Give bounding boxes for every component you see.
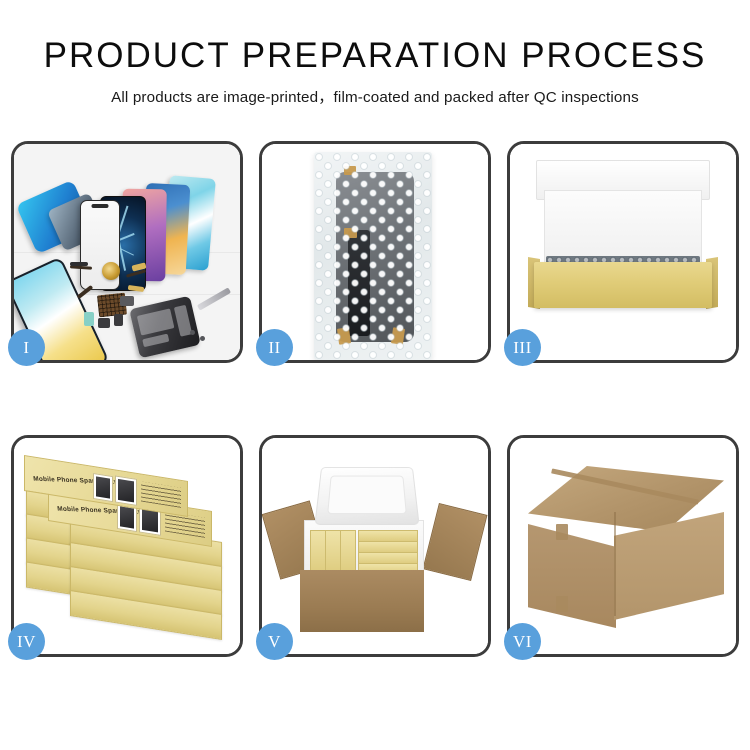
step-badge-6: VI: [504, 623, 541, 660]
bubble-wrap-icon: [262, 144, 488, 360]
process-step-panel-6[interactable]: VI: [507, 435, 739, 657]
page-title: PRODUCT PREPARATION PROCESS: [0, 38, 750, 75]
step-badge-2: II: [256, 329, 293, 366]
page-header: PRODUCT PREPARATION PROCESS All products…: [0, 0, 750, 107]
step-badge-1: I: [8, 329, 45, 366]
process-step-panel-2[interactable]: II: [259, 141, 491, 363]
process-step-grid: I II: [11, 141, 739, 657]
sealed-carton-icon: [510, 438, 736, 654]
process-step-panel-4[interactable]: Mobile Phone Spare Parts Mobile Phone Sp…: [11, 435, 243, 657]
step-badge-3: III: [504, 329, 541, 366]
step-badge-4: IV: [8, 623, 45, 660]
process-step-panel-1[interactable]: I: [11, 141, 243, 363]
phone-parts-icon: [14, 144, 240, 360]
foam-carton-icon: [262, 438, 488, 654]
process-step-panel-3[interactable]: III: [507, 141, 739, 363]
stacked-boxes-icon: Mobile Phone Spare Parts Mobile Phone Sp…: [14, 438, 240, 654]
process-step-panel-5[interactable]: V: [259, 435, 491, 657]
step-badge-5: V: [256, 623, 293, 660]
page-subtitle: All products are image-printed，film-coat…: [0, 85, 750, 107]
open-kraft-box-icon: [510, 144, 736, 360]
